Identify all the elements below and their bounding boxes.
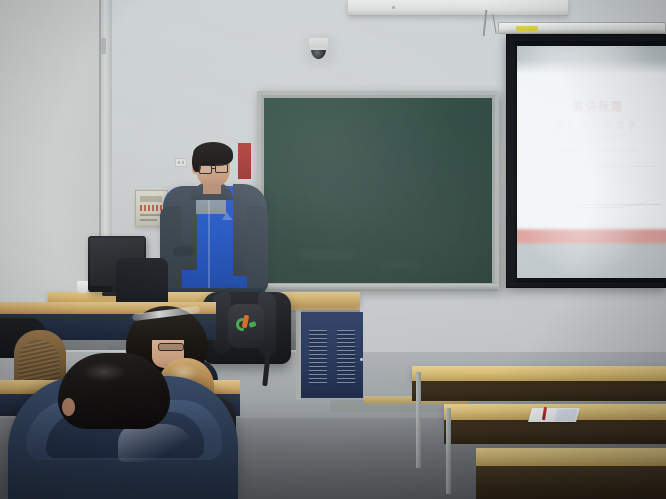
photo-vignette	[0, 0, 666, 499]
classroom-photo: 演讲标题 副标题内容文字 讲座说明文字 88888	[0, 0, 666, 499]
